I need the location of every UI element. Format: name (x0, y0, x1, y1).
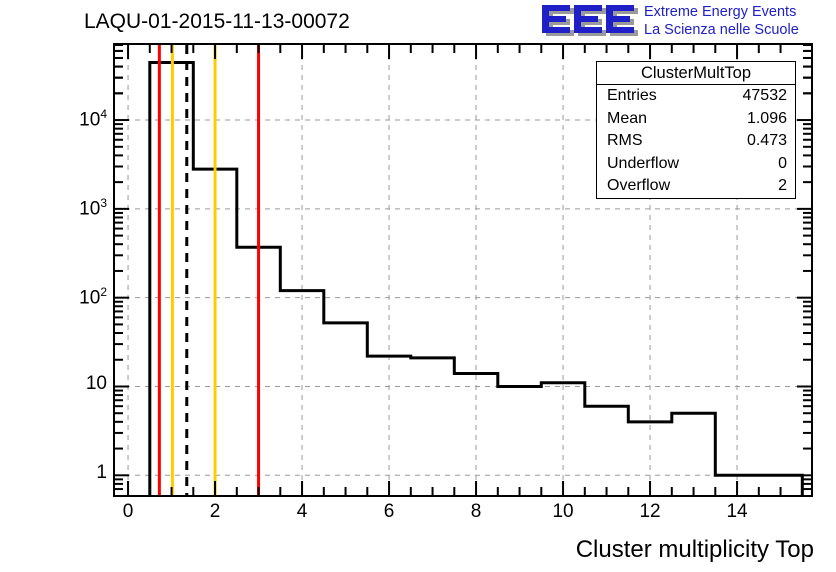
stats-row: Entries47532 (597, 85, 795, 108)
stats-row-label: Mean (607, 108, 647, 131)
stats-row-value: 0 (778, 153, 787, 176)
y-tick-label: 10 (43, 373, 107, 395)
stats-row: Overflow2 (597, 175, 795, 198)
y-tick-label: 1 (43, 462, 107, 484)
stats-row-label: RMS (607, 130, 643, 153)
stats-row: Mean1.096 (597, 108, 795, 131)
x-tick-label: 10 (543, 501, 583, 523)
eee-logo: Extreme Energy Events La Scienza nelle S… (540, 2, 832, 44)
stats-row-value: 2 (778, 175, 787, 198)
stats-row: RMS0.473 (597, 130, 795, 153)
page-title: LAQU-01-2015-11-13-00072 (84, 10, 350, 34)
y-tick-label: 104 (43, 107, 107, 131)
x-tick-label: 2 (195, 501, 235, 523)
stats-row-value: 47532 (743, 85, 788, 108)
root-canvas: LAQU-01-2015-11-13-00072 (0, 0, 836, 572)
stats-row-label: Entries (607, 85, 657, 108)
y-tick-label: 103 (43, 196, 107, 220)
stats-row-label: Underflow (607, 153, 679, 176)
stats-title: ClusterMultTop (597, 62, 795, 85)
stats-box: ClusterMultTop Entries47532Mean1.096RMS0… (596, 61, 796, 199)
stats-row-value: 1.096 (747, 108, 787, 131)
x-tick-label: 8 (456, 501, 496, 523)
x-axis-title: Cluster multiplicity Top (576, 536, 814, 564)
stats-row-label: Overflow (607, 175, 670, 198)
eee-logo-line1: Extreme Energy Events (644, 3, 799, 21)
x-tick-label: 4 (282, 501, 322, 523)
x-tick-label: 14 (717, 501, 757, 523)
eee-logo-text: Extreme Energy Events La Scienza nelle S… (644, 3, 799, 39)
stats-row-value: 0.473 (747, 130, 787, 153)
eee-logo-line2: La Scienza nelle Scuole (644, 21, 799, 39)
stats-rows: Entries47532Mean1.096RMS0.473Underflow0O… (597, 85, 795, 198)
stats-row: Underflow0 (597, 153, 795, 176)
x-tick-label: 12 (630, 501, 670, 523)
x-tick-label: 6 (369, 501, 409, 523)
x-tick-label: 0 (108, 501, 148, 523)
eee-logo-mark (540, 2, 640, 42)
y-tick-label: 102 (43, 285, 107, 309)
